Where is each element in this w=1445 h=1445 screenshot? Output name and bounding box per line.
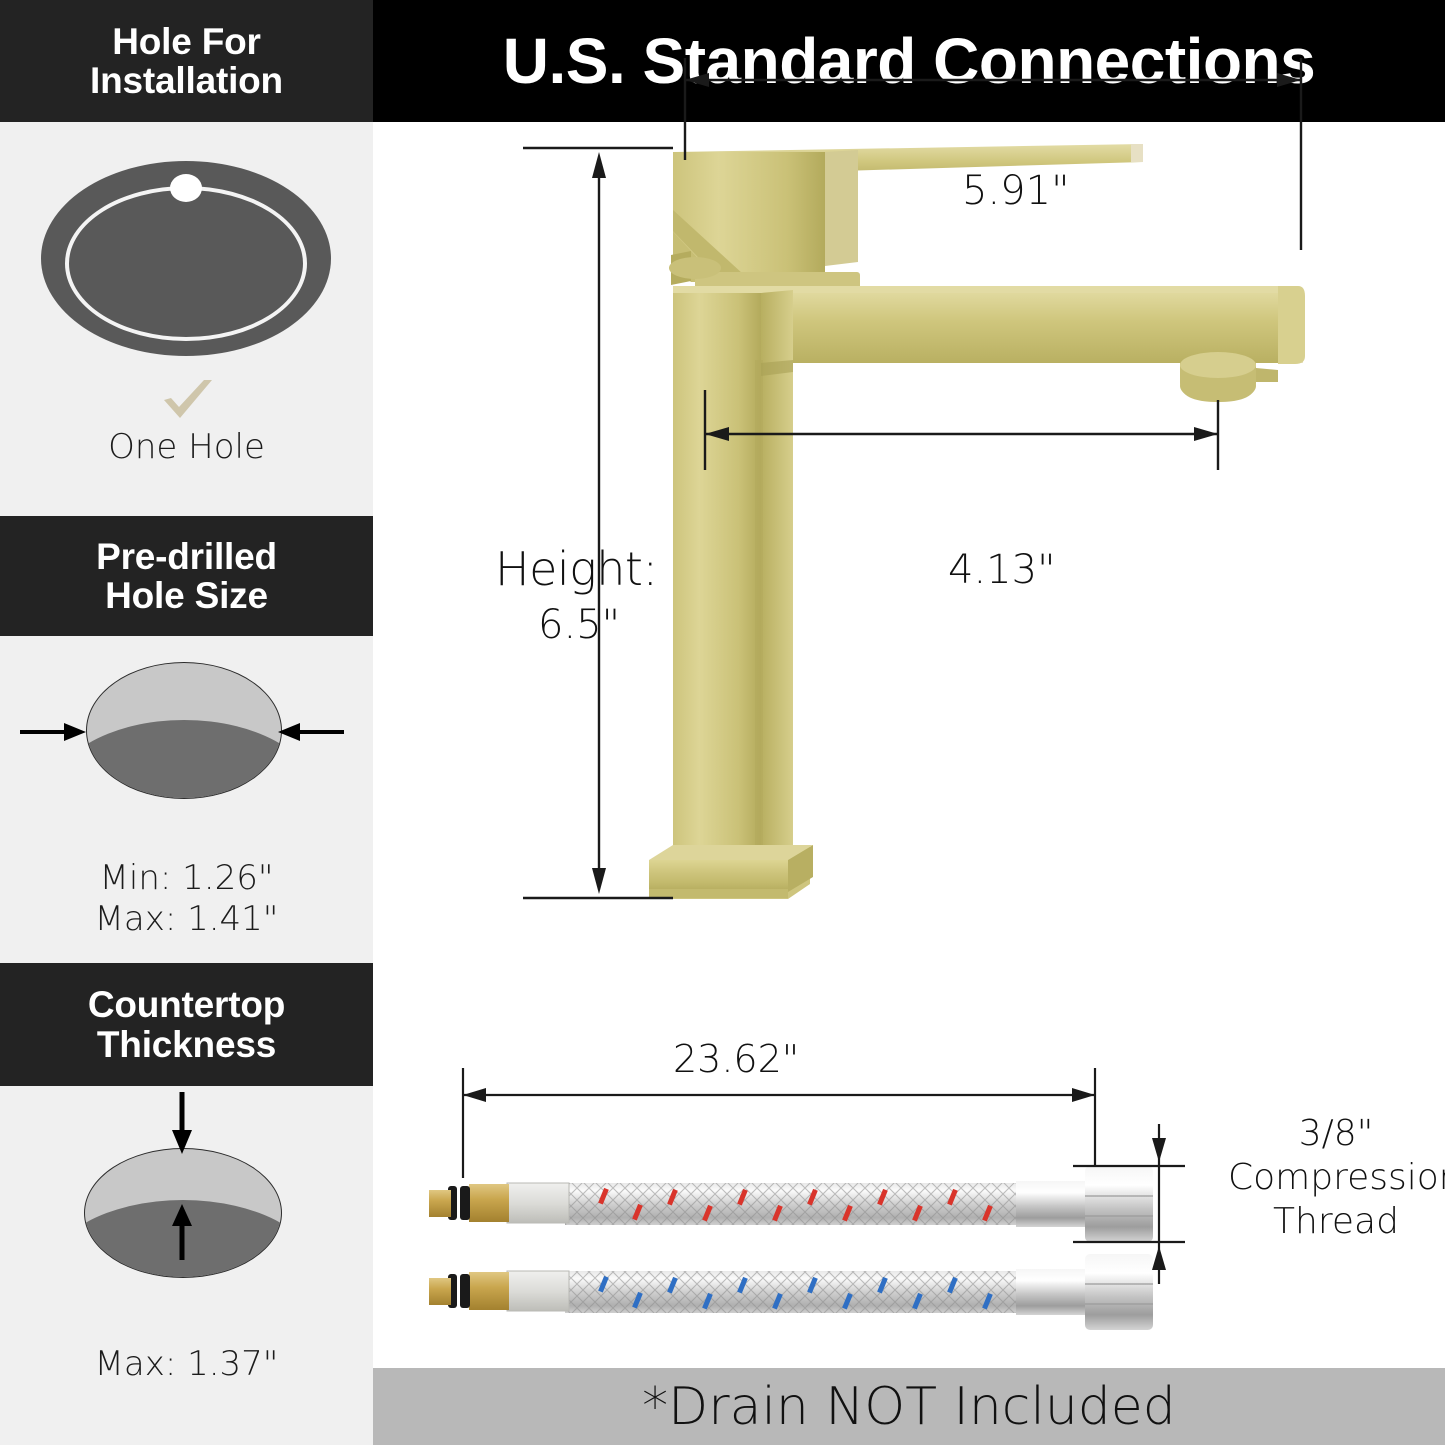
- bottom-banner-text: *Drain NOT Included: [642, 1377, 1176, 1437]
- thread-desc-line2: Thread: [1228, 1200, 1444, 1244]
- arrow-up-icon: [170, 1204, 194, 1260]
- section-title-line1: Hole For: [112, 22, 260, 61]
- sink-faucet-hole: [170, 174, 202, 202]
- checkmark-icon: [160, 378, 216, 422]
- hole-ellipse-shape: [86, 662, 282, 799]
- caption-hole-min: Min: 1.26": [0, 858, 373, 899]
- sink-top-view-one-hole-icon: [0, 122, 373, 387]
- supply-hose-cold: [429, 1254, 1153, 1330]
- arrow-right-icon: [20, 722, 86, 742]
- section-title-line1: Pre-drilled: [96, 537, 277, 576]
- bottom-banner: *Drain NOT Included: [373, 1368, 1445, 1445]
- arrow-left-icon: [278, 722, 344, 742]
- thread-desc-line1: Compression: [1228, 1156, 1444, 1200]
- section-body-pre-drilled-hole-size: Min: 1.26" Max: 1.41": [0, 636, 373, 963]
- caption-hole-max: Max: 1.41": [0, 899, 373, 940]
- sink-inner-ring: [65, 186, 307, 341]
- section-title-line2: Installation: [90, 61, 283, 100]
- section-body-countertop-thickness: Max: 1.37": [0, 1086, 373, 1445]
- caption-countertop-max: Max: 1.37": [0, 1344, 373, 1385]
- dimension-label-hose-length: 23.62": [673, 1037, 799, 1081]
- thread-size: 3/8": [1228, 1112, 1444, 1156]
- hole-ellipse-icon: [0, 636, 373, 826]
- section-title-line2: Hole Size: [105, 576, 268, 615]
- section-title-line2: Thickness: [97, 1025, 276, 1064]
- section-header-hole-for-installation: Hole For Installation: [0, 0, 373, 122]
- countertop-ellipse-icon: [0, 1086, 373, 1316]
- caption-one-hole: One Hole: [0, 427, 373, 468]
- section-header-countertop-thickness: Countertop Thickness: [0, 963, 373, 1086]
- main-panel: U.S. Standard Connections: [373, 0, 1445, 1445]
- caption-hole-size: Min: 1.26" Max: 1.41": [0, 858, 373, 941]
- spec-sidebar: Hole For Installation One Hole Pre-drill…: [0, 0, 373, 1445]
- product-spec-diagram: Hole For Installation One Hole Pre-drill…: [0, 0, 1445, 1445]
- section-title-line1: Countertop: [88, 985, 285, 1024]
- dimension-label-thread: 3/8" Compression Thread: [1228, 1112, 1444, 1244]
- section-body-hole-for-installation: One Hole: [0, 122, 373, 516]
- supply-hose-hot: [429, 1166, 1153, 1242]
- section-header-pre-drilled-hole-size: Pre-drilled Hole Size: [0, 516, 373, 636]
- arrow-down-icon: [170, 1092, 194, 1154]
- hole-ellipse-shadow: [86, 720, 282, 799]
